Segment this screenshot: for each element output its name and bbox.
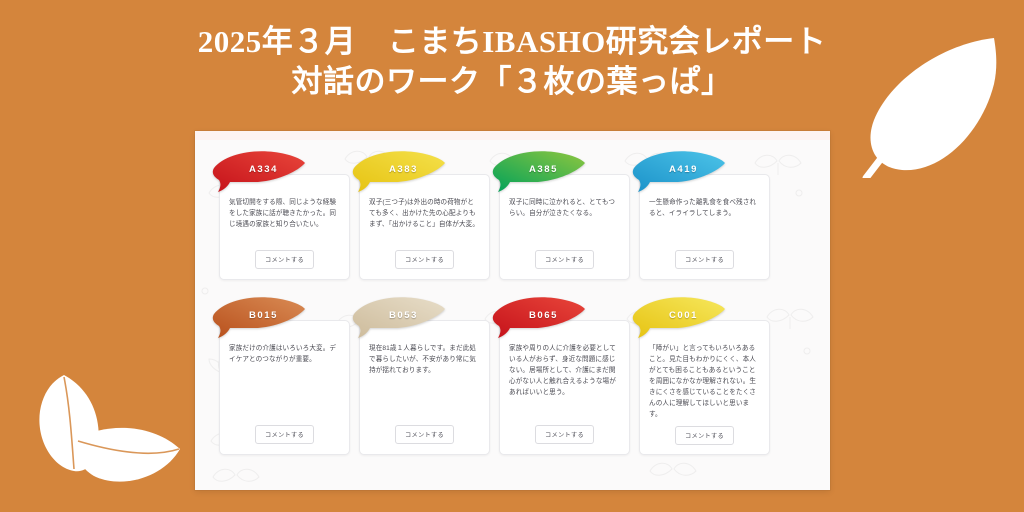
- voice-card-body-b015: 家族だけの介護はいろいろ大変。デイケアとのつながりが重要。 コメントする: [219, 320, 350, 455]
- voice-card-a419: A419 一生懸命作った離乳食を食べ残されると、イライラしてしまう。 コメントす…: [639, 149, 770, 295]
- leaf-badge-b065[interactable]: B065: [490, 295, 587, 339]
- voice-card-a334: A334 気管切開をする際、同じような経験をした家族に話が聴きたかった。同じ境遇…: [219, 149, 350, 295]
- comment-button-a334[interactable]: コメントする: [255, 250, 314, 269]
- comment-button-a385[interactable]: コメントする: [535, 250, 594, 269]
- card-text-b053: 現在81歳１人暮らしです。まだ此処で暮らしたいが、不安があり常に気持が揺れており…: [369, 343, 480, 419]
- leaf-badge-a383[interactable]: A383: [350, 149, 447, 193]
- voice-card-body-b053: 現在81歳１人暮らしです。まだ此処で暮らしたいが、不安があり常に気持が揺れており…: [359, 320, 490, 455]
- leaf-badge-a419[interactable]: A419: [630, 149, 727, 193]
- voice-card-b065: B065 家族や周りの人に介護を必要としている人がおらず、身近な問題に感じない。…: [499, 295, 630, 470]
- voice-card-body-b065: 家族や周りの人に介護を必要としている人がおらず、身近な問題に感じない。居場所とし…: [499, 320, 630, 455]
- comment-button-b015[interactable]: コメントする: [255, 425, 314, 444]
- comment-button-b065[interactable]: コメントする: [535, 425, 594, 444]
- voice-card-b053: B053 現在81歳１人暮らしです。まだ此処で暮らしたいが、不安があり常に気持が…: [359, 295, 490, 470]
- card-text-a385: 双子に同時に泣かれると、とてもつらい。自分が泣きたくなる。: [509, 197, 620, 244]
- voice-card-b015: B015 家族だけの介護はいろいろ大変。デイケアとのつながりが重要。 コメントす…: [219, 295, 350, 470]
- comment-button-a419[interactable]: コメントする: [675, 250, 734, 269]
- page-title-line-2: 対話のワーク「３枚の葉っぱ」: [0, 62, 1024, 102]
- leaf-badge-b015[interactable]: B015: [210, 295, 307, 339]
- page-title-line-1: 2025年３月 こまちIBASHO研究会レポート: [0, 22, 1024, 62]
- leaf-badge-shape-icon: [210, 295, 307, 339]
- leaf-badge-a334[interactable]: A334: [210, 149, 307, 193]
- leaf-badge-shape-icon: [490, 149, 587, 193]
- report-board: A334 気管切開をする際、同じような経験をした家族に話が聴きたかった。同じ境遇…: [195, 131, 830, 490]
- voice-card-grid: A334 気管切開をする際、同じような経験をした家族に話が聴きたかった。同じ境遇…: [195, 131, 830, 490]
- card-text-a383: 双子(三つ子)は外出の時の荷物がとても多く、出かけた先の心配よりもまず、「出かけ…: [369, 197, 480, 244]
- comment-button-c001[interactable]: コメントする: [675, 426, 734, 445]
- voice-card-c001: C001 「障がい」と言ってもいろいろあること。見た目もわかりにくく、本人がとて…: [639, 295, 770, 470]
- card-text-a334: 気管切開をする際、同じような経験をした家族に話が聴きたかった。同じ境遇の家族と知…: [229, 197, 340, 244]
- leaf-badge-shape-icon: [630, 295, 727, 339]
- voice-card-body-c001: 「障がい」と言ってもいろいろあること。見た目もわかりにくく、本人がとても困ること…: [639, 320, 770, 455]
- card-text-c001: 「障がい」と言ってもいろいろあること。見た目もわかりにくく、本人がとても困ること…: [649, 343, 760, 420]
- leaf-badge-shape-icon: [350, 295, 447, 339]
- comment-button-a383[interactable]: コメントする: [395, 250, 454, 269]
- leaf-badge-c001[interactable]: C001: [630, 295, 727, 339]
- voice-card-a385: A385 双子に同時に泣かれると、とてもつらい。自分が泣きたくなる。 コメントす…: [499, 149, 630, 295]
- card-text-a419: 一生懸命作った離乳食を食べ残されると、イライラしてしまう。: [649, 197, 760, 244]
- leaf-badge-a385[interactable]: A385: [490, 149, 587, 193]
- card-text-b015: 家族だけの介護はいろいろ大変。デイケアとのつながりが重要。: [229, 343, 340, 419]
- two-leaves-icon-bottom-left: [28, 365, 198, 510]
- comment-button-b053[interactable]: コメントする: [395, 425, 454, 444]
- leaf-badge-shape-icon: [210, 149, 307, 193]
- page-title: 2025年３月 こまちIBASHO研究会レポート 対話のワーク「３枚の葉っぱ」: [0, 22, 1024, 102]
- voice-card-a383: A383 双子(三つ子)は外出の時の荷物がとても多く、出かけた先の心配よりもまず…: [359, 149, 490, 295]
- leaf-badge-shape-icon: [490, 295, 587, 339]
- leaf-badge-b053[interactable]: B053: [350, 295, 447, 339]
- leaf-badge-shape-icon: [630, 149, 727, 193]
- leaf-badge-shape-icon: [350, 149, 447, 193]
- card-text-b065: 家族や周りの人に介護を必要としている人がおらず、身近な問題に感じない。居場所とし…: [509, 343, 620, 419]
